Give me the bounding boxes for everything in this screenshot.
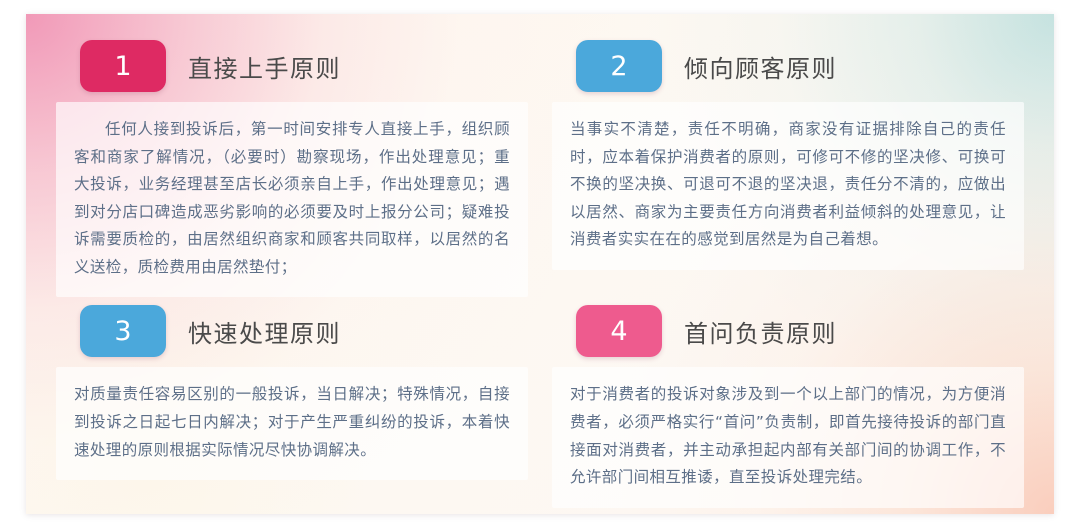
principle-title-1: 直接上手原则 <box>188 49 341 84</box>
principle-header-3: 3 快速处理原则 <box>80 305 528 357</box>
poster-page: 1 直接上手原则 任何人接到投诉后，第一时间安排专人直接上手，组织顾客和商家了解… <box>0 0 1080 528</box>
principle-body-text-1: 任何人接到投诉后，第一时间安排专人直接上手，组织顾客和商家了解情况，（必要时）勘… <box>74 116 510 281</box>
principle-body-panel-4: 对于消费者的投诉对象涉及到一个以上部门的情况，为方便消费者，必须严格实行“首问”… <box>552 367 1024 507</box>
principle-number-badge-1: 1 <box>80 40 166 92</box>
principle-number-badge-4: 4 <box>576 305 662 357</box>
principle-body-text-4: 对于消费者的投诉对象涉及到一个以上部门的情况，为方便消费者，必须严格实行“首问”… <box>570 381 1006 491</box>
principle-header-2: 2 倾向顾客原则 <box>576 40 1024 92</box>
principle-body-text-3: 对质量责任容易区别的一般投诉，当日解决；特殊情况，自接到投诉之日起七日内解决；对… <box>74 381 510 464</box>
principle-title-2: 倾向顾客原则 <box>684 49 837 84</box>
principles-grid: 1 直接上手原则 任何人接到投诉后，第一时间安排专人直接上手，组织顾客和商家了解… <box>26 14 1054 514</box>
principle-section-1: 1 直接上手原则 任何人接到投诉后，第一时间安排专人直接上手，组织顾客和商家了解… <box>56 40 528 297</box>
principle-number-badge-2: 2 <box>576 40 662 92</box>
principle-section-4: 4 首问负责原则 对于消费者的投诉对象涉及到一个以上部门的情况，为方便消费者，必… <box>552 305 1024 507</box>
principle-header-1: 1 直接上手原则 <box>80 40 528 92</box>
principle-section-2: 2 倾向顾客原则 当事实不清楚，责任不明确，商家没有证据排除自己的责任时，应本着… <box>552 40 1024 297</box>
principle-body-text-2: 当事实不清楚，责任不明确，商家没有证据排除自己的责任时，应本着保护消费者的原则，… <box>570 116 1006 254</box>
principle-section-3: 3 快速处理原则 对质量责任容易区别的一般投诉，当日解决；特殊情况，自接到投诉之… <box>56 305 528 507</box>
principle-title-4: 首问负责原则 <box>684 314 837 349</box>
principle-body-panel-3: 对质量责任容易区别的一般投诉，当日解决；特殊情况，自接到投诉之日起七日内解决；对… <box>56 367 528 480</box>
principle-body-panel-2: 当事实不清楚，责任不明确，商家没有证据排除自己的责任时，应本着保护消费者的原则，… <box>552 102 1024 270</box>
principle-number-badge-3: 3 <box>80 305 166 357</box>
principle-title-3: 快速处理原则 <box>188 314 341 349</box>
gradient-poster-card: 1 直接上手原则 任何人接到投诉后，第一时间安排专人直接上手，组织顾客和商家了解… <box>26 14 1054 514</box>
principle-body-panel-1: 任何人接到投诉后，第一时间安排专人直接上手，组织顾客和商家了解情况，（必要时）勘… <box>56 102 528 297</box>
principle-header-4: 4 首问负责原则 <box>576 305 1024 357</box>
